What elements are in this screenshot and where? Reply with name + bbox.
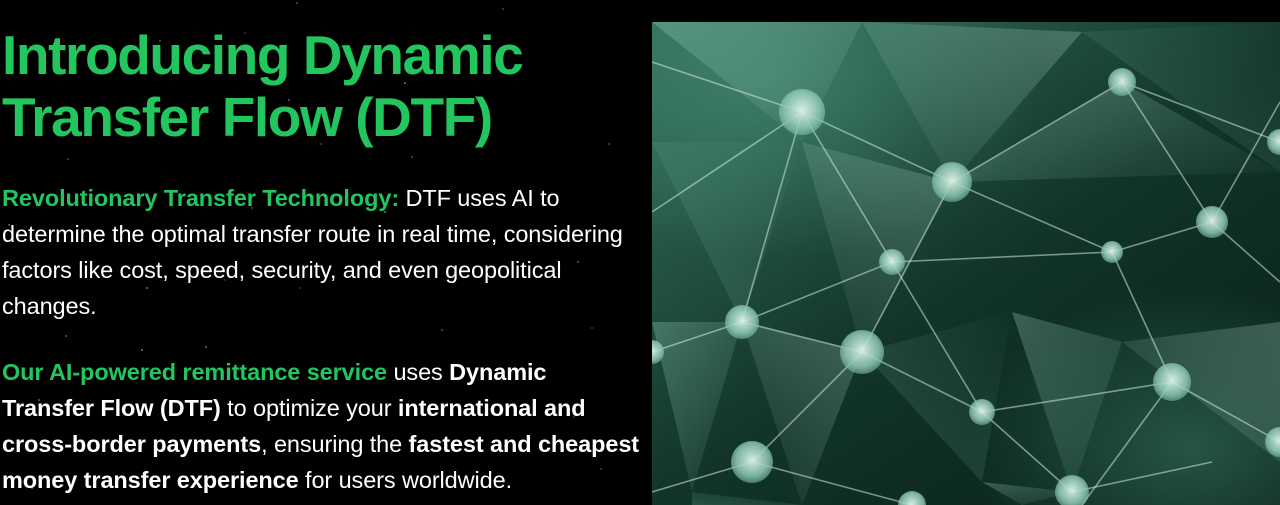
page-title: Introducing Dynamic Transfer Flow (DTF) — [2, 24, 641, 148]
paragraph-ai-powered-remittance-service: Our AI-powered remittance service uses D… — [2, 354, 641, 498]
hero-section: Introducing Dynamic Transfer Flow (DTF) … — [0, 0, 1280, 505]
paragraph-body-segment: for users worldwide. — [299, 467, 512, 493]
network-graph-svg — [652, 22, 1280, 505]
paragraph-body-segment: , ensuring the — [261, 431, 408, 457]
hero-text-column: Introducing Dynamic Transfer Flow (DTF) … — [0, 0, 653, 505]
paragraph-lead-accent: Revolutionary Transfer Technology: — [2, 185, 399, 211]
network-graph-image — [652, 22, 1280, 505]
paragraph-revolutionary-transfer-technology: Revolutionary Transfer Technology: DTF u… — [2, 180, 641, 324]
paragraph-body-segment: to optimize your — [221, 395, 398, 421]
polygon-facets — [652, 22, 1280, 505]
paragraph-lead-accent: Our AI-powered remittance service — [2, 359, 387, 385]
paragraph-body-segment: uses — [387, 359, 449, 385]
